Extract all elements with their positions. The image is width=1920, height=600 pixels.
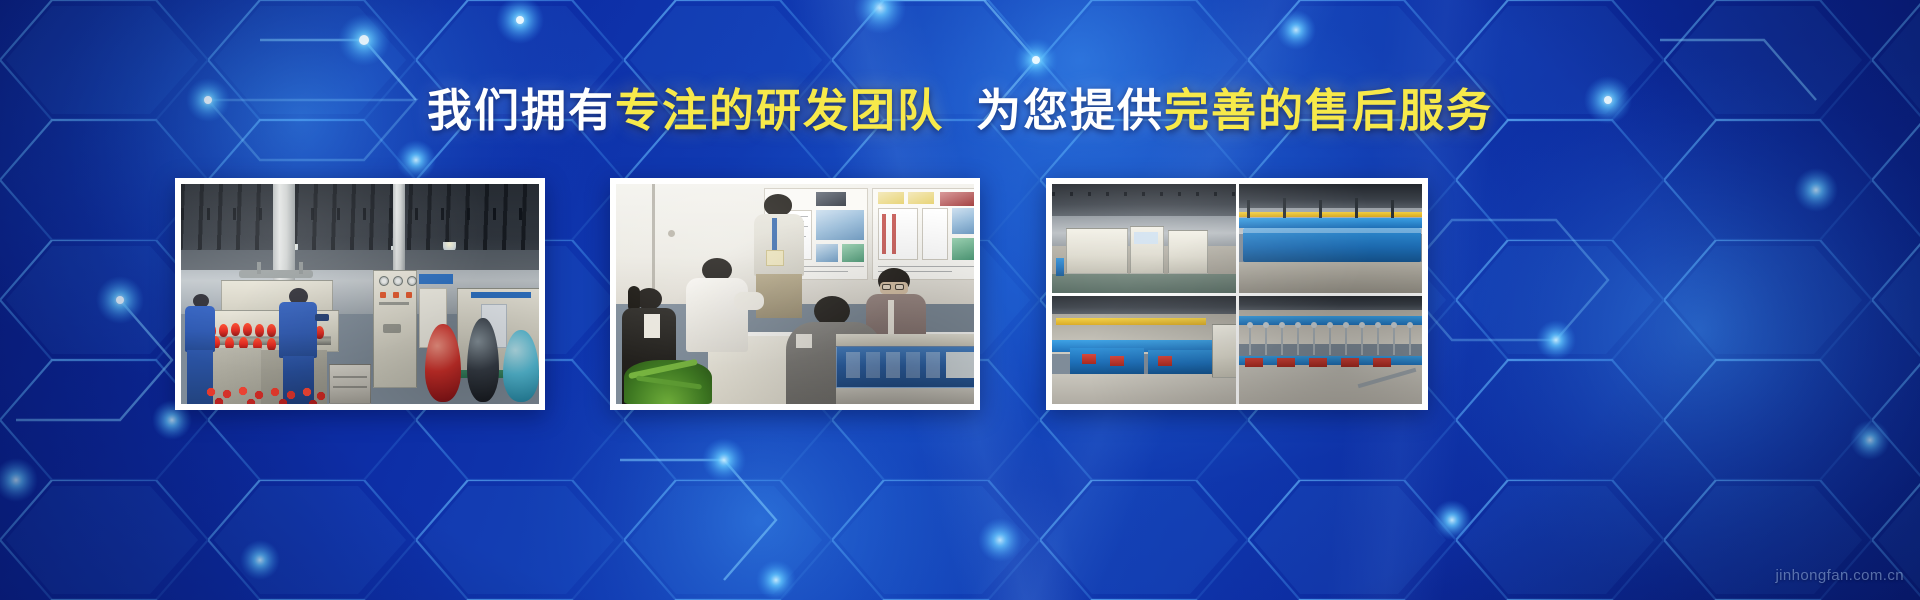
photo-production-line	[181, 184, 539, 404]
photo-gallery	[0, 178, 1920, 412]
site-watermark: jinhongfan.com.cn	[1775, 567, 1904, 584]
panel-conveyor-racks	[1052, 294, 1237, 404]
photo-card-engineering-meeting[interactable]	[610, 178, 980, 410]
photo-factory-equipment	[1052, 184, 1422, 404]
headline-part-1: 我们拥有	[427, 85, 615, 136]
headline-part-2: 专注的研发团队	[615, 85, 944, 136]
headline-part-4: 完善的售后服务	[1164, 85, 1493, 136]
promo-banner: 我们拥有专注的研发团队为您提供完善的售后服务	[0, 0, 1920, 600]
banner-headline: 我们拥有专注的研发团队为您提供完善的售后服务	[0, 82, 1920, 143]
panel-coating-line	[1052, 184, 1237, 294]
photo-engineering-meeting	[616, 184, 974, 404]
panel-hook-carousel	[1237, 294, 1422, 404]
panel-blue-tunnel	[1237, 184, 1422, 294]
headline-part-3: 为您提供	[976, 85, 1164, 136]
photo-card-factory-equipment[interactable]	[1046, 178, 1428, 410]
photo-card-production-line[interactable]	[175, 178, 545, 410]
